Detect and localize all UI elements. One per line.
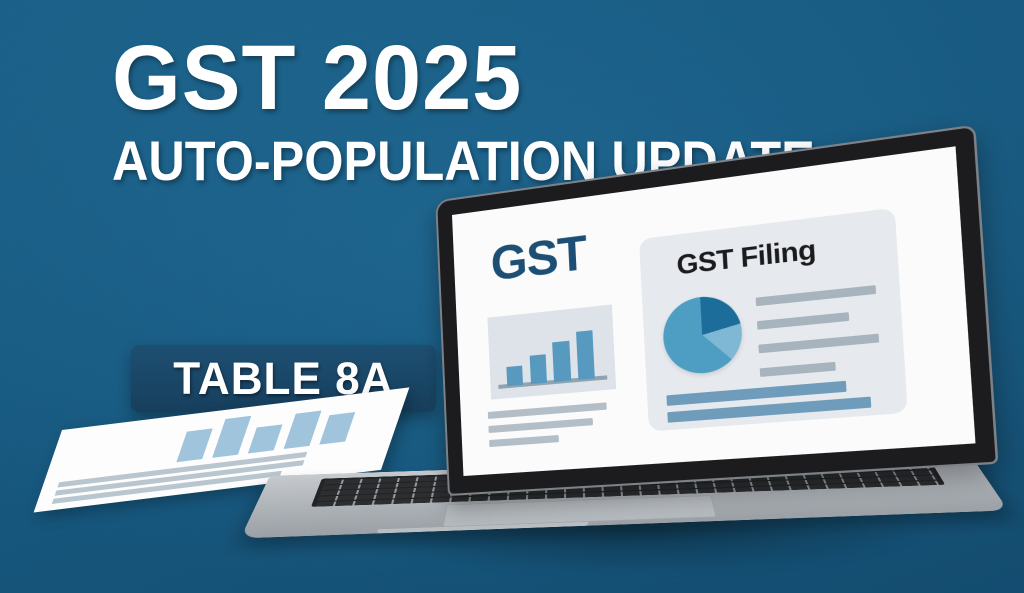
- filing-text-line: [760, 362, 836, 377]
- paper-bar: [176, 428, 212, 462]
- screen-heading: GST: [490, 225, 588, 292]
- laptop-illustration: GST GST Filing: [276, 196, 976, 586]
- laptop-screen: GST GST Filing: [452, 146, 976, 476]
- pie-chart: [661, 293, 744, 377]
- filing-text-line: [758, 334, 879, 354]
- page-title: GST 2025: [112, 36, 880, 121]
- bar-chart-bar: [530, 354, 547, 384]
- bar-chart-bar: [553, 341, 571, 382]
- bar-chart-bar: [507, 365, 524, 386]
- screen-bar-chart: [487, 304, 616, 399]
- screen-text-line: [488, 402, 607, 419]
- screen-text-line: [489, 435, 559, 447]
- screen-text-line: [488, 418, 593, 433]
- bar-chart-bar: [576, 330, 595, 379]
- gst-filing-card: GST Filing: [639, 208, 908, 432]
- filing-text-line: [757, 312, 849, 330]
- poster-canvas: GST 2025 AUTO-POPULATION UPDATE TABLE 8A: [0, 0, 1024, 593]
- filing-card-title: GST Filing: [676, 233, 817, 282]
- filing-text-line: [756, 285, 876, 306]
- paper-bar: [212, 416, 251, 458]
